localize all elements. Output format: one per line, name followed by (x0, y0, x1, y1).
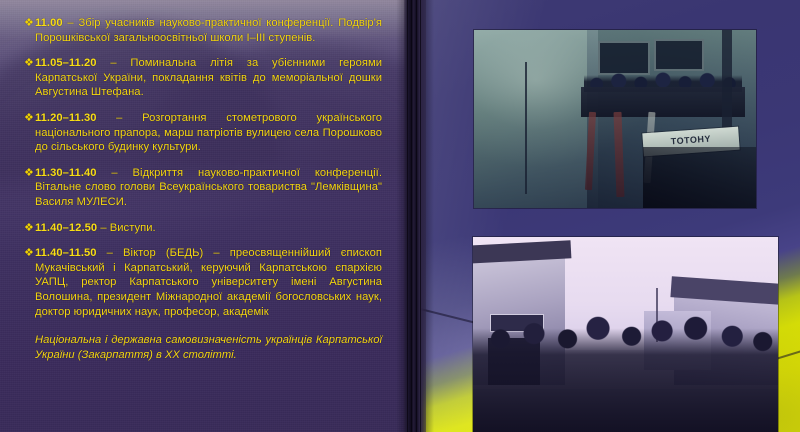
program-entry-body: 11.00 – Збір учасників науково-практично… (35, 16, 382, 45)
program-entry-dash: – (97, 247, 123, 259)
program-entry: ❖ 11.00 – Збір учасників науково-практич… (24, 16, 382, 45)
right-page: TOTOHY (420, 0, 800, 432)
photo-shop-sign-text: TOTOHY (643, 131, 739, 148)
photo-balcony-railing (581, 87, 745, 117)
program-entry: ❖ 11.40–12.50 – Виступи. (24, 221, 382, 236)
florette-bullet-icon: ❖ (24, 246, 35, 319)
left-page: ❖ 11.00 – Збір учасників науково-практич… (0, 0, 412, 432)
photo-shadow-region (643, 147, 756, 208)
photo-building-wall-left (474, 30, 598, 208)
program-entry-dash: – (63, 17, 79, 29)
program-entry-body: 11.40–12.50 – Виступи. (35, 221, 382, 236)
program-entry-dash: – (97, 112, 143, 124)
photo-balcony-crowd: TOTOHY (474, 30, 756, 208)
program-entry-time: 11.30–11.40 (35, 167, 97, 179)
closing-note: Національна і державна самовизначеність … (24, 333, 382, 363)
program-entry-time: 11.40–11.50 (35, 247, 97, 259)
program-entry: ❖ 11.30–11.40 – Відкриття науково-практи… (24, 166, 382, 210)
program-entry-time: 11.40–12.50 (35, 222, 97, 234)
florette-bullet-icon: ❖ (24, 166, 35, 210)
photo-pole (525, 62, 527, 194)
florette-bullet-icon: ❖ (24, 221, 35, 236)
photo-chimney (722, 30, 732, 133)
program-entry-dash: – (97, 167, 133, 179)
program-entry-text: Виступи. (110, 222, 156, 234)
program-entry-text: Збір учасників науково-практичної конфер… (35, 17, 382, 44)
program-schedule-list: ❖ 11.00 – Збір учасників науково-практич… (24, 16, 382, 363)
program-entry-time: 11.00 (35, 17, 63, 29)
book-spine (404, 0, 426, 432)
program-entry-dash: – (97, 57, 131, 69)
program-entry: ❖ 11.20–11.30 – Розгортання стометрового… (24, 111, 382, 155)
program-entry-body: 11.20–11.30 – Розгортання стометрового у… (35, 111, 382, 155)
florette-bullet-icon: ❖ (24, 16, 35, 45)
program-entry-time: 11.05–11.20 (35, 57, 97, 69)
program-entry-body: 11.40–11.50 – Віктор (БЕДЬ) – преосвящен… (35, 246, 382, 319)
florette-bullet-icon: ❖ (24, 56, 35, 100)
program-entry: ❖ 11.05–11.20 – Поминальна літія за убіє… (24, 56, 382, 100)
photo-group-of-men (473, 299, 778, 432)
photo-street-march (473, 237, 778, 432)
program-entry-body: 11.30–11.40 – Відкриття науково-практичн… (35, 166, 382, 210)
program-entry-time: 11.20–11.30 (35, 112, 97, 124)
program-entry: ❖ 11.40–11.50 – Віктор (БЕДЬ) – преосвящ… (24, 246, 382, 319)
program-entry-dash: – (97, 222, 110, 234)
booklet-spread: ❖ 11.00 – Збір учасників науково-практич… (0, 0, 800, 432)
florette-bullet-icon: ❖ (24, 111, 35, 155)
program-entry-body: 11.05–11.20 – Поминальна літія за убієнн… (35, 56, 382, 100)
